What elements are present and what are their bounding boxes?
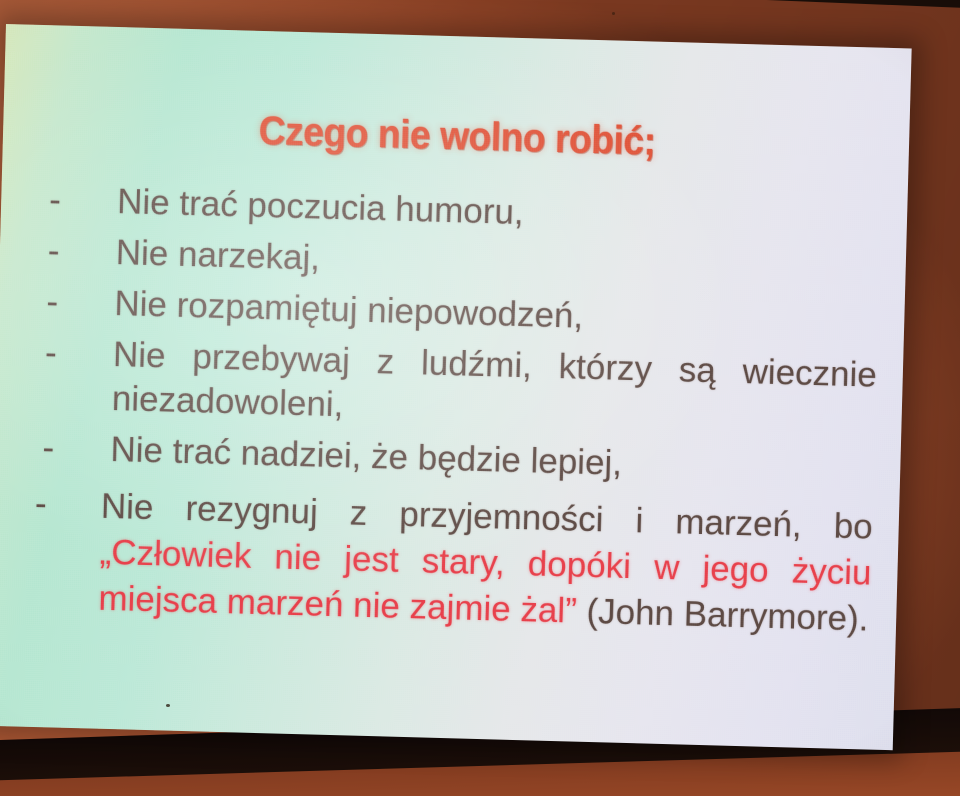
bullet-marker-icon: - [46, 280, 59, 324]
bullet-item-6: -Nie rezygnuj z przyjemności i marzeń, b… [18, 481, 873, 643]
photograph-of-projected-slide: Czego nie wolno robić; - Nie trać poczuc… [0, 0, 960, 796]
slide-title: Czego nie wolno robić; [60, 104, 853, 170]
bullet-text: Nie przebywaj z ludźmi, którzy są wieczn… [111, 335, 877, 424]
projection-screen: Czego nie wolno robić; - Nie trać poczuc… [0, 24, 912, 750]
presentation-slide: Czego nie wolno robić; - Nie trać poczuc… [0, 24, 912, 750]
dust-speck [166, 704, 170, 707]
dust-speck [612, 12, 615, 15]
bullet-marker-icon: - [34, 482, 47, 526]
bullet-text: Nie trać nadziei, że będzie lepiej, [110, 430, 623, 483]
bullet-marker-icon: - [49, 178, 62, 222]
final-bullet-attribution: (John Barrymore). [586, 592, 869, 639]
bullet-marker-icon: - [42, 427, 55, 471]
slide-content: Czego nie wolno robić; - Nie trać poczuc… [0, 24, 912, 643]
bullet-marker-icon: - [45, 331, 58, 375]
bullet-text: Nie trać poczucia humoru, [117, 182, 524, 232]
bullet-item-4: - Nie przebywaj z ludźmi, którzy są wiec… [23, 331, 877, 442]
bullet-marker-icon: - [47, 229, 60, 273]
bullet-text: Nie rozpamiętuj niepowodzeń, [114, 284, 584, 336]
bullet-list: - Nie trać poczucia humoru, - Nie narzek… [18, 178, 882, 643]
bullet-text: Nie narzekaj, [115, 233, 320, 278]
